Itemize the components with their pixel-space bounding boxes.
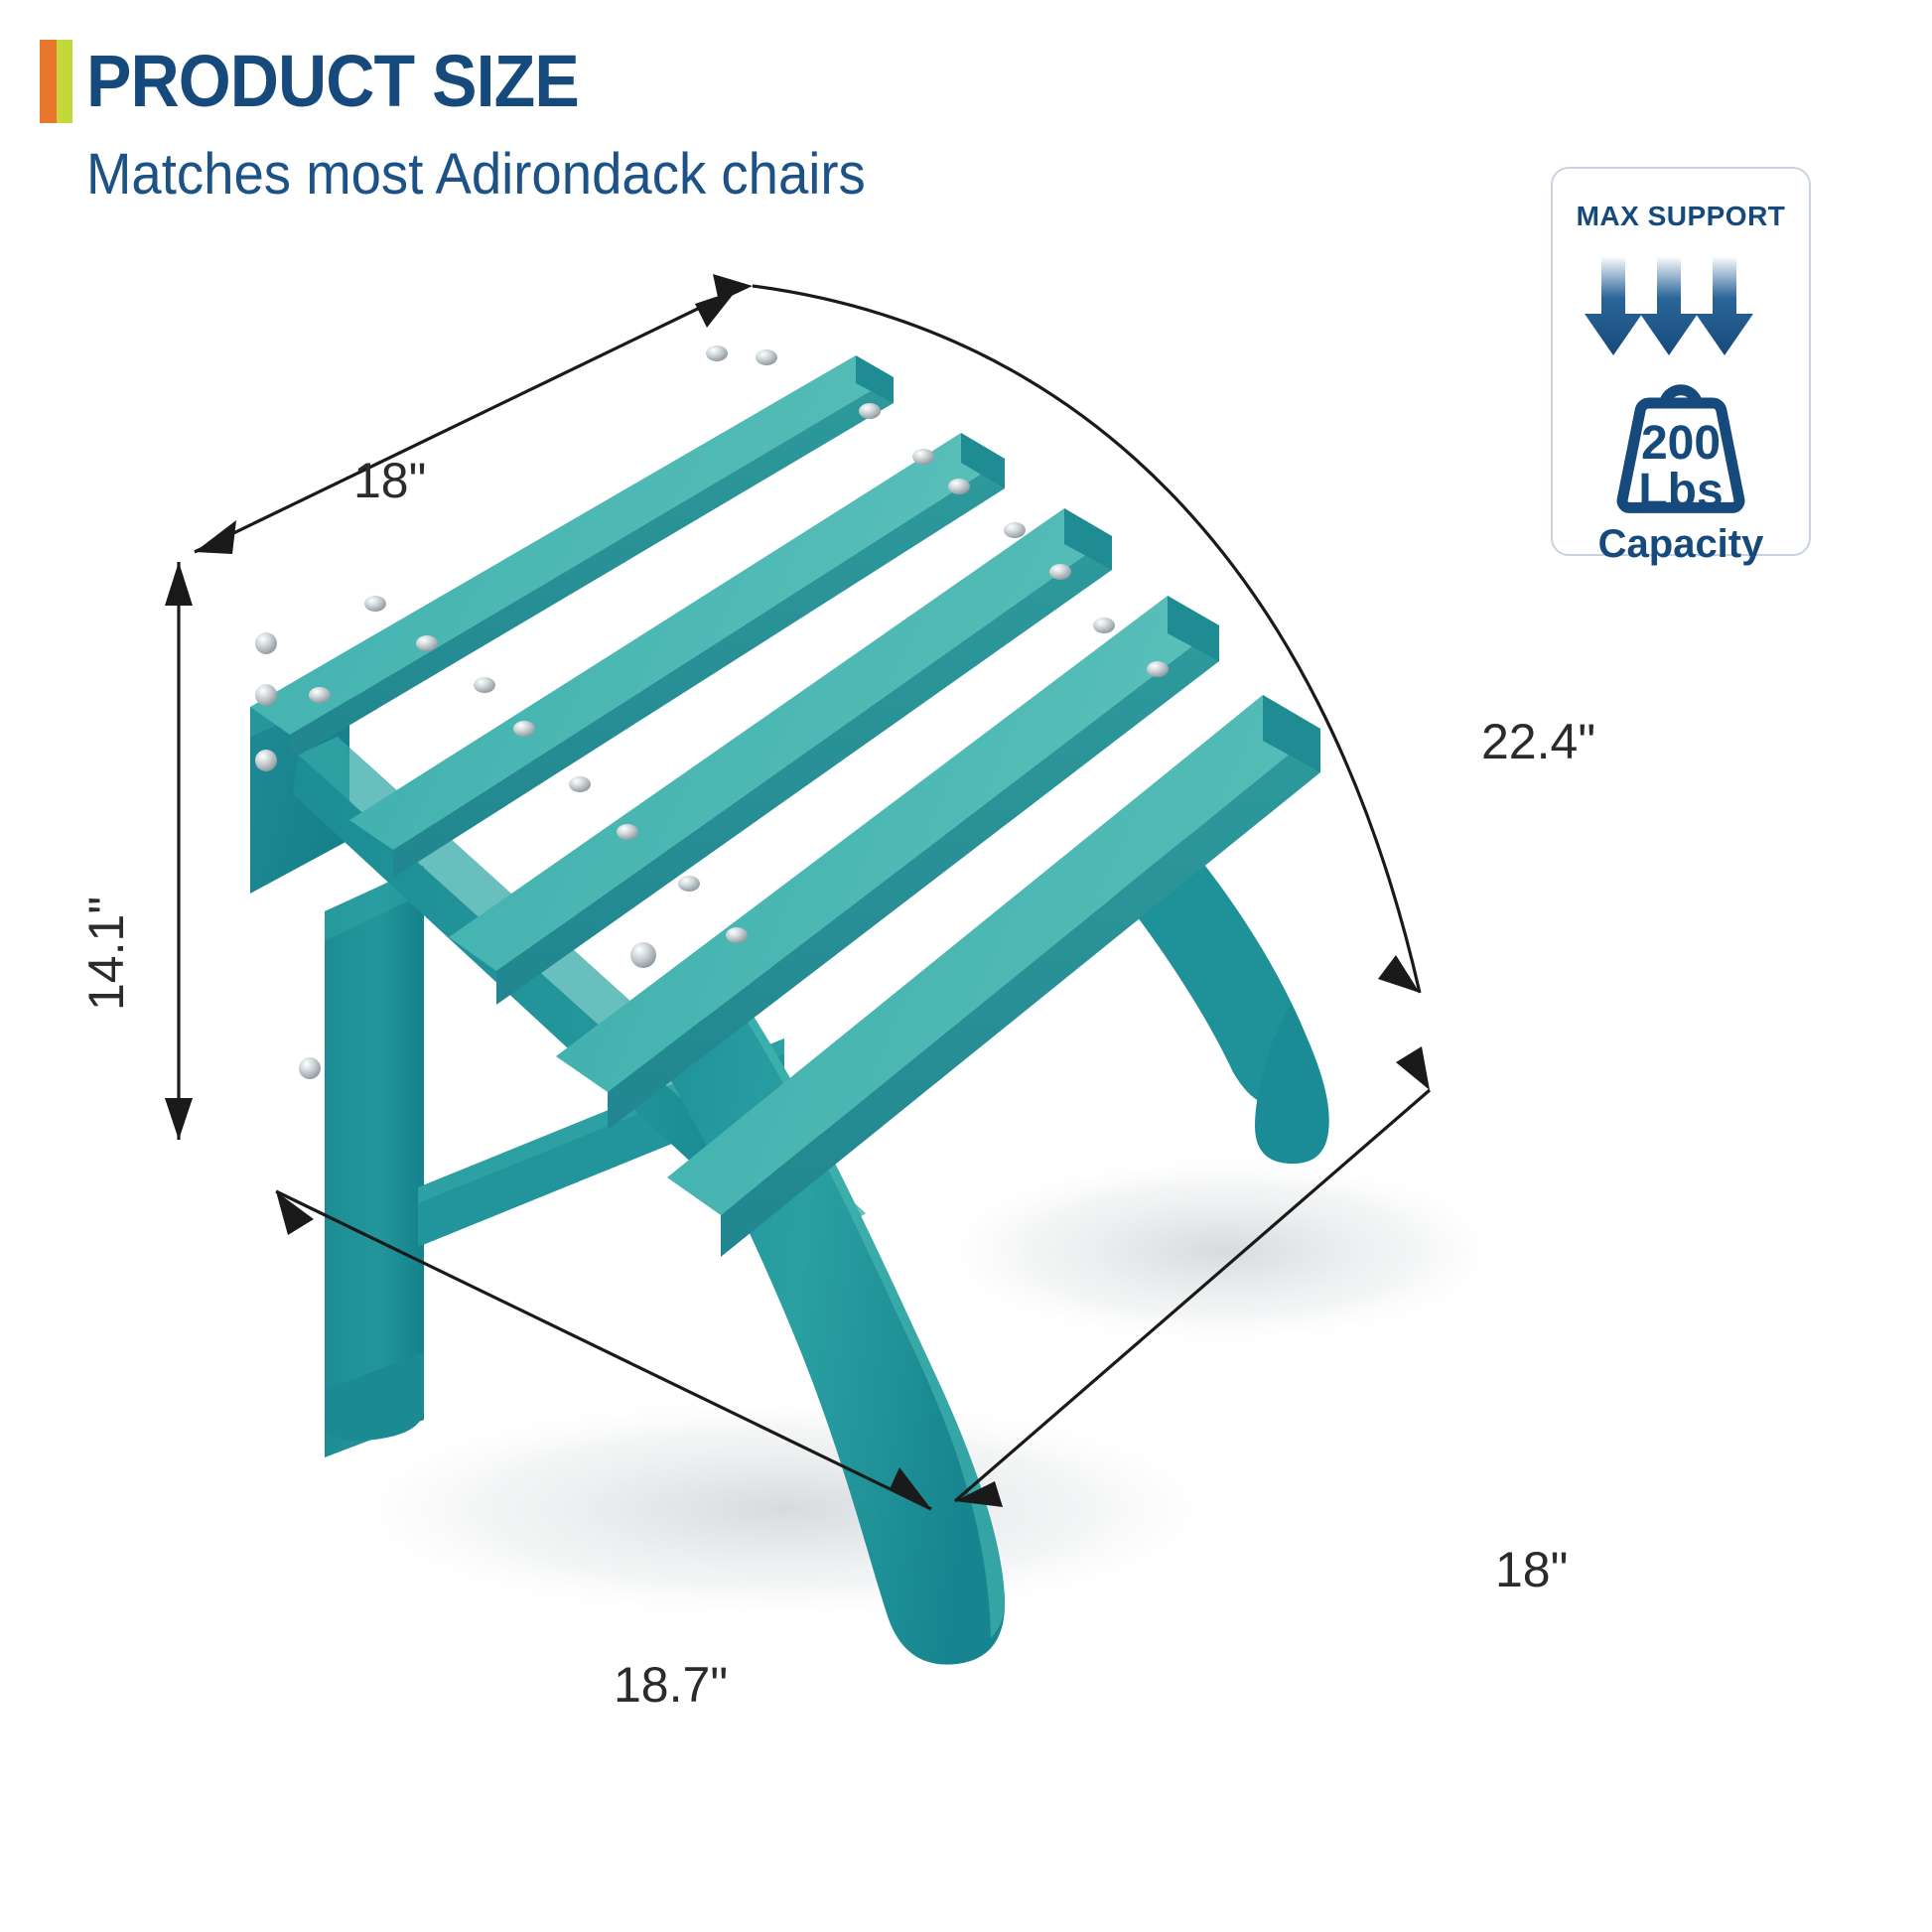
dimension-label-depth-front: 18.7"	[614, 1656, 728, 1714]
max-support-badge: MAX SUPPORT	[1551, 167, 1811, 556]
rear-leg-foot	[325, 1352, 424, 1441]
slat	[556, 596, 1219, 1130]
floor-shadow-right	[923, 1152, 1519, 1350]
rear-leg-top-face	[325, 866, 424, 941]
down-arrows-icon	[1582, 254, 1780, 357]
ottoman-body	[250, 345, 1329, 1665]
page-subtitle: Matches most Adirondack chairs	[86, 143, 866, 207]
weight-unit-text: Lbs	[1638, 465, 1723, 517]
accent-stripe-orange	[40, 40, 57, 123]
slat	[349, 433, 1005, 878]
side-rail-left-top	[298, 737, 866, 1236]
front-curved-leg-highlight	[743, 1015, 1005, 1638]
dimension-label-height: 14.1"	[77, 897, 135, 1011]
right-leg-foot	[1255, 1003, 1329, 1164]
title-row: PRODUCT SIZE	[40, 40, 915, 123]
right-leg-upper	[1112, 822, 1312, 1106]
side-panel-rear-highlight	[250, 667, 349, 737]
dim-line-bottom-right	[955, 1090, 1430, 1501]
badge-heading: MAX SUPPORT	[1577, 201, 1786, 232]
cross-brace	[418, 1038, 784, 1247]
weight-icon: 200 Lbs	[1587, 367, 1775, 518]
slat	[449, 508, 1112, 1005]
dim-line-top	[195, 290, 737, 552]
slat	[667, 695, 1320, 1257]
dim-arc-right	[753, 286, 1420, 993]
front-curved-leg	[635, 1015, 1005, 1665]
page-title: PRODUCT SIZE	[86, 40, 579, 123]
dim-line-bottom-left	[276, 1191, 931, 1509]
badge-footer-label: Capacity	[1598, 522, 1764, 567]
slat	[250, 355, 894, 760]
dimension-label-width-front: 18"	[1495, 1541, 1568, 1598]
side-rail-left	[293, 755, 834, 1291]
rear-leg	[325, 866, 424, 1457]
dimension-label-depth-diagonal: 22.4"	[1481, 713, 1595, 770]
accent-bar-icon	[40, 40, 72, 123]
side-panel-rear	[250, 667, 349, 894]
header: PRODUCT SIZE Matches most Adirondack cha…	[40, 40, 915, 207]
cross-brace-highlight	[418, 1038, 784, 1203]
dimension-label-width-back: 18"	[353, 452, 426, 509]
floor-shadow	[318, 1390, 1251, 1628]
infographic-canvas: PRODUCT SIZE Matches most Adirondack cha…	[0, 0, 1932, 1932]
weight-value-text: 200	[1641, 417, 1721, 470]
accent-stripe-green	[57, 40, 73, 123]
